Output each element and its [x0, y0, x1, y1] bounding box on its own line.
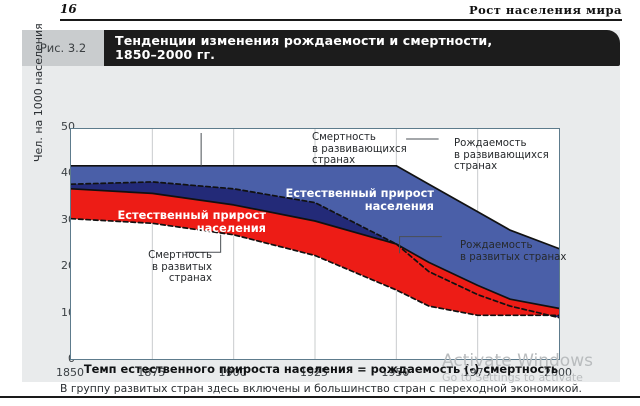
footer-rule: [0, 396, 640, 398]
page-number: 16: [60, 2, 77, 16]
annotation-developing-birth: Рождаемостьв развивающихсястранах: [454, 138, 584, 173]
figure-title-line2: 1850–2000 гг.: [115, 48, 620, 62]
figure-title-line1: Тенденции изменения рождаемости и смертн…: [115, 34, 620, 48]
page-root: 16 Рост населения мира Рис. 3.2 Тенденци…: [0, 0, 640, 406]
figure-title-bar: Тенденции изменения рождаемости и смертн…: [104, 30, 620, 66]
chart-area: Чел. на 1000 населения 01020304050 18501…: [22, 66, 620, 382]
y-axis-label: Чел. на 1000 населения: [32, 23, 45, 162]
annotation-developed-birth: Рождаемостьв развитых странах: [460, 240, 610, 263]
header-rule: [60, 19, 622, 21]
band-label-developed: Естественный приростнаселения: [84, 209, 266, 234]
band-label-developing: Естественный приростнаселения: [272, 187, 434, 212]
footer-formula: Темп естественного прироста населения = …: [22, 362, 620, 376]
book-title: Рост населения мира: [469, 3, 622, 17]
footer-note: В группу развитых стран здесь включены и…: [22, 382, 620, 395]
figure-card: Рис. 3.2 Тенденции изменения рождаемости…: [22, 30, 620, 382]
annotation-developing-death: Смертностьв развивающихсястранах: [312, 132, 432, 167]
running-head: 16 Рост населения мира: [22, 2, 622, 24]
annotation-developed-death: Смертностьв развитыхстранах: [122, 250, 212, 285]
